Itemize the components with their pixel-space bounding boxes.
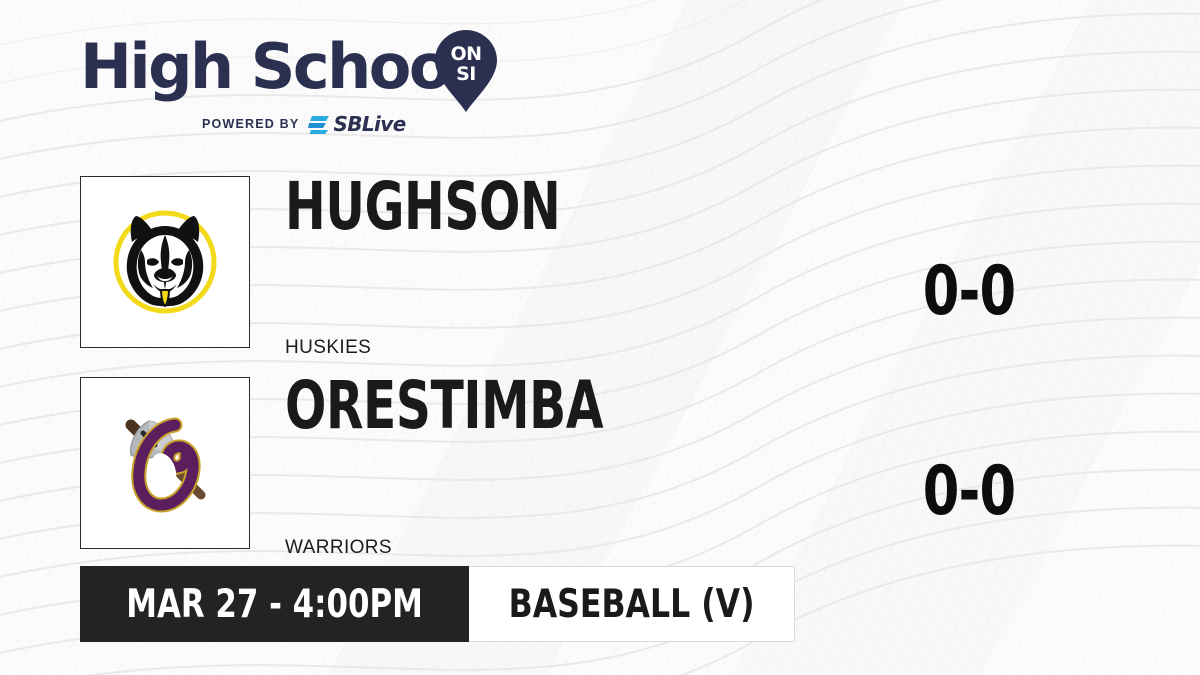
team-name: HUGHSON	[285, 174, 560, 240]
team-mascot: WARRIORS	[285, 537, 392, 559]
sblive-wordmark: SBLive	[333, 112, 405, 136]
map-pin-icon: ON SI	[435, 30, 497, 112]
husky-head-logo	[105, 202, 225, 322]
powered-by-group: POWERED BY SBLive	[202, 112, 406, 136]
orestimba-o-tomahawk-logo	[105, 403, 225, 523]
game-info-bar: MAR 27 - 4:00PM BASEBALL (V)	[80, 566, 795, 642]
svg-text:ON: ON	[450, 43, 481, 65]
sblive-logo: SBLive	[308, 112, 405, 136]
brand-logo: High School ON SI POWERED BY SBLive	[80, 32, 520, 132]
game-sport-text: BASEBALL (V)	[509, 585, 755, 624]
team-logo-box	[80, 176, 250, 348]
brand-wordmark: High School	[80, 32, 468, 102]
powered-by-label: POWERED BY	[202, 117, 299, 131]
svg-text:SI: SI	[456, 63, 476, 85]
team-record: 0-0	[875, 258, 1062, 326]
matchup-graphic: High School ON SI POWERED BY SBLive	[0, 0, 1200, 675]
game-sport-chip: BASEBALL (V)	[469, 566, 795, 642]
team-record: 0-0	[875, 458, 1062, 526]
team-name: ORESTIMBA	[285, 373, 603, 439]
sblive-bolt-icon	[308, 115, 330, 134]
team-mascot: HUSKIES	[285, 337, 371, 359]
game-datetime-text: MAR 27 - 4:00PM	[126, 585, 423, 624]
team-logo-box	[80, 377, 250, 549]
game-datetime-chip: MAR 27 - 4:00PM	[80, 566, 469, 642]
